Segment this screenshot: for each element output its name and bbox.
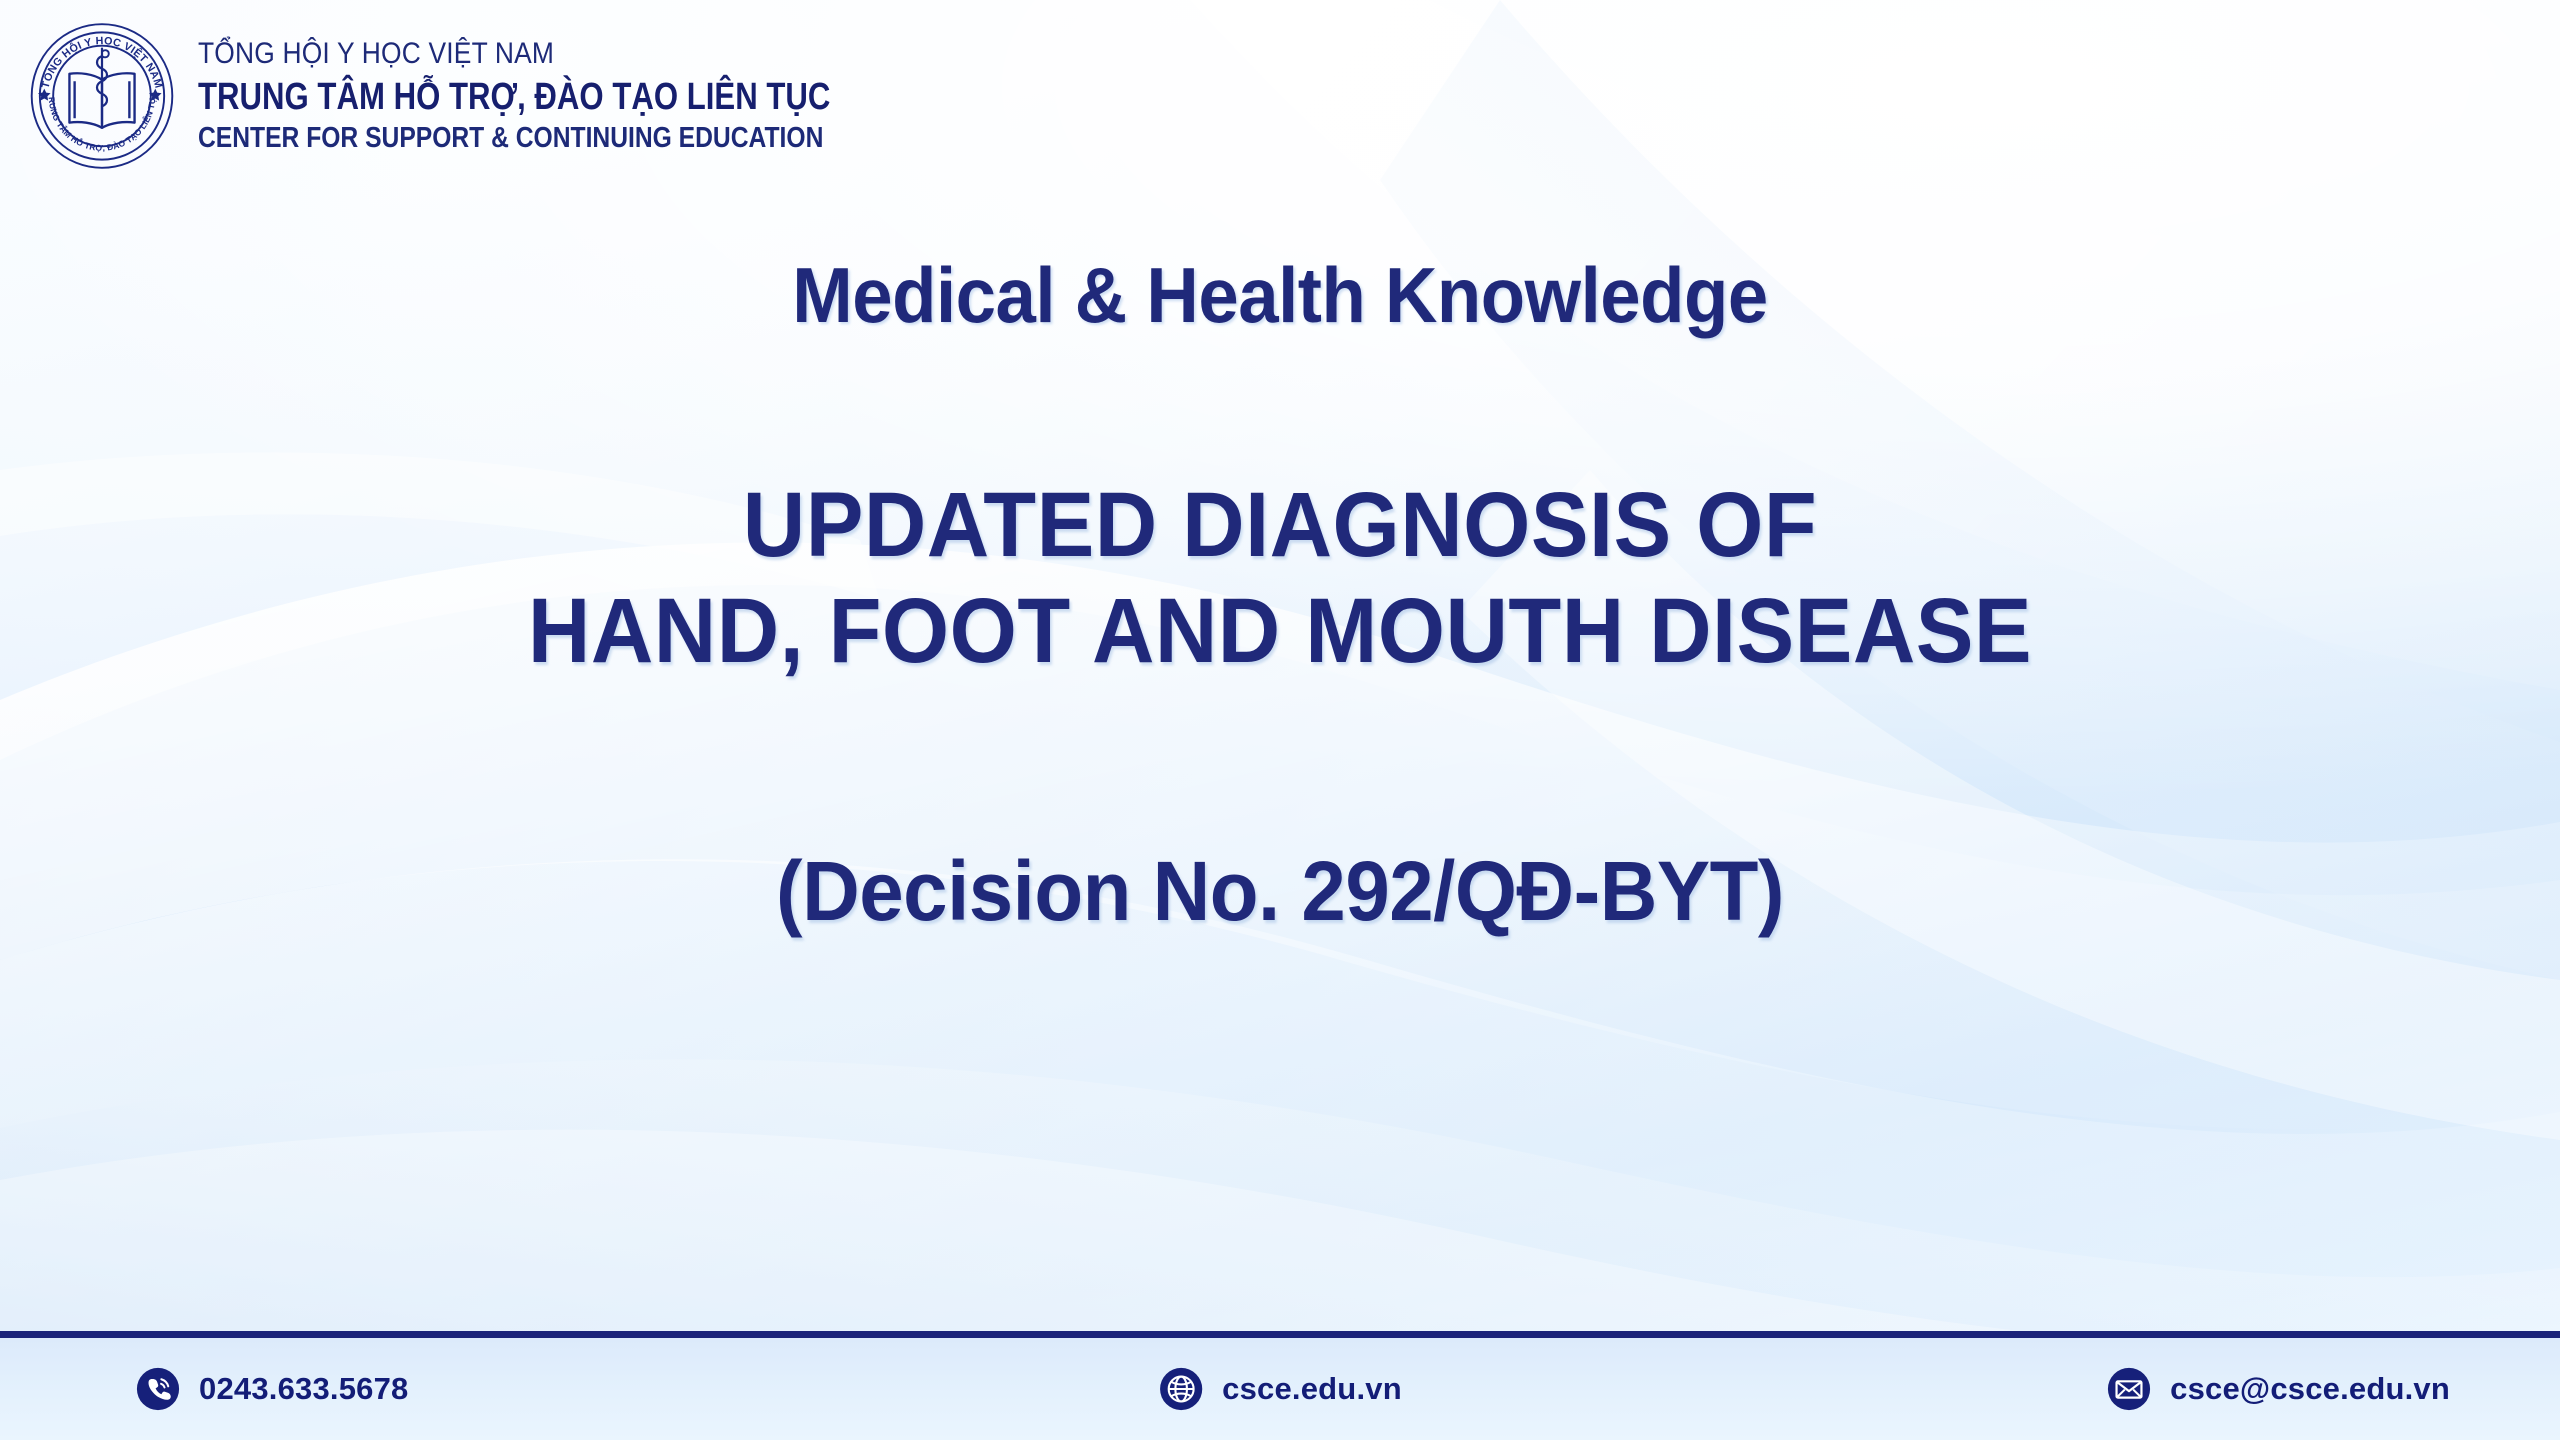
slide-content: Medical & Health Knowledge UPDATED DIAGN… (0, 250, 2560, 940)
organization-logo: TỔNG HỘI Y HỌC VIỆT NAM TRUNG TÂM HỖ TRỢ… (28, 22, 969, 170)
slide-subtitle-decision: (Decision No. 292/QĐ-BYT) (64, 843, 2496, 940)
footer-phone[interactable]: 0243.633.5678 (135, 1366, 408, 1412)
footer-website[interactable]: csce.edu.vn (1158, 1366, 1402, 1412)
footer-bar: 0243.633.5678 csce.edu.vn (0, 1338, 2560, 1440)
org-line-center-vi: TRUNG TÂM HỖ TRỢ, ĐÀO TẠO LIÊN TỤC (198, 78, 830, 116)
slide-title-line-1: UPDATED DIAGNOSIS OF (77, 473, 2483, 579)
slide-title: UPDATED DIAGNOSIS OF HAND, FOOT AND MOUT… (77, 473, 2483, 685)
vmaa-circular-seal-emblem: TỔNG HỘI Y HỌC VIỆT NAM TRUNG TÂM HỖ TRỢ… (28, 22, 176, 170)
organization-name-block: TỔNG HỘI Y HỌC VIỆT NAM TRUNG TÂM HỖ TRỢ… (198, 39, 969, 153)
org-line-center-en: CENTER FOR SUPPORT & CONTINUING EDUCATIO… (198, 124, 854, 153)
slide-title-line-2: HAND, FOOT AND MOUTH DISEASE (77, 579, 2483, 685)
title-slide: TỔNG HỘI Y HỌC VIỆT NAM TRUNG TÂM HỖ TRỢ… (0, 0, 2560, 1440)
globe-icon (1158, 1366, 1204, 1412)
envelope-icon (2106, 1366, 2152, 1412)
footer-divider (0, 1331, 2560, 1338)
phone-icon (135, 1366, 181, 1412)
slide-kicker: Medical & Health Knowledge (90, 250, 2471, 341)
footer-email[interactable]: csce@csce.edu.vn (2106, 1366, 2450, 1412)
footer-email-text: csce@csce.edu.vn (2170, 1371, 2450, 1407)
footer-website-text: csce.edu.vn (1222, 1371, 1402, 1407)
org-line-vmaa: TỔNG HỘI Y HỌC VIỆT NAM (198, 39, 877, 69)
footer-phone-text: 0243.633.5678 (199, 1371, 408, 1407)
